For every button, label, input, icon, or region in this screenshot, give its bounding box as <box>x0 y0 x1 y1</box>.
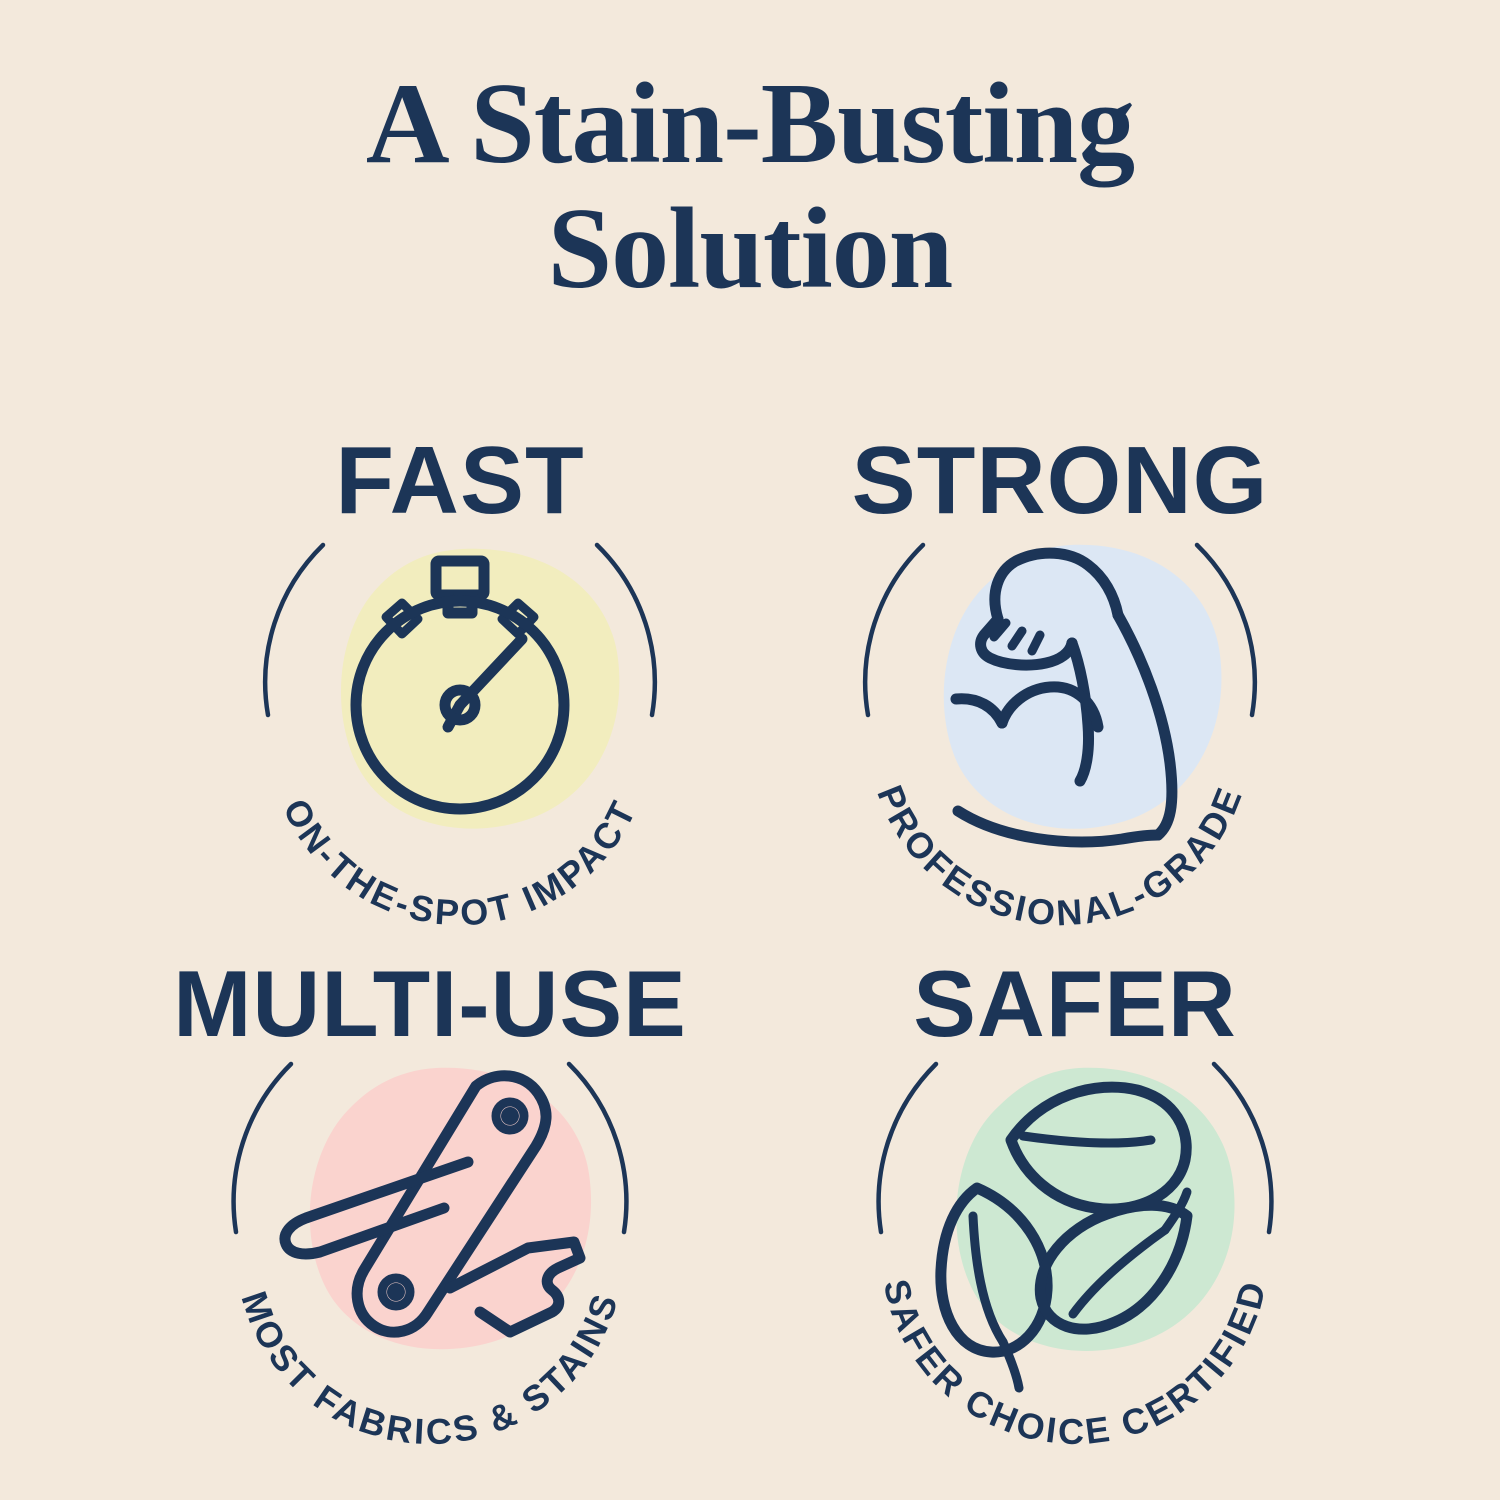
benefit-badge-fast[interactable]: FAST <box>140 415 780 935</box>
badge-ring-arc-left <box>865 545 923 715</box>
infographic-page: A Stain-Busting Solution FAST <box>0 0 1500 1500</box>
badge-ring-arc-left <box>879 1064 936 1232</box>
badge-ring-arc-left <box>265 545 323 715</box>
page-title: A Stain-Busting Solution <box>0 62 1500 313</box>
benefit-badge-strong[interactable]: STRONG <box>740 415 1380 935</box>
benefit-badge-safer[interactable]: SAFER SAF <box>755 940 1395 1460</box>
badge-title-safer: SAFER <box>913 951 1237 1056</box>
badge-title-multi-use: MULTI-USE <box>173 951 687 1056</box>
badge-title-strong: STRONG <box>852 427 1269 534</box>
benefit-badge-multi-use[interactable]: MULTI-USE MOST FABRI <box>110 940 750 1460</box>
badge-title-fast: FAST <box>335 427 584 534</box>
badge-ring-arc-left <box>234 1064 291 1232</box>
benefit-badge-grid: FAST <box>0 415 1500 1475</box>
